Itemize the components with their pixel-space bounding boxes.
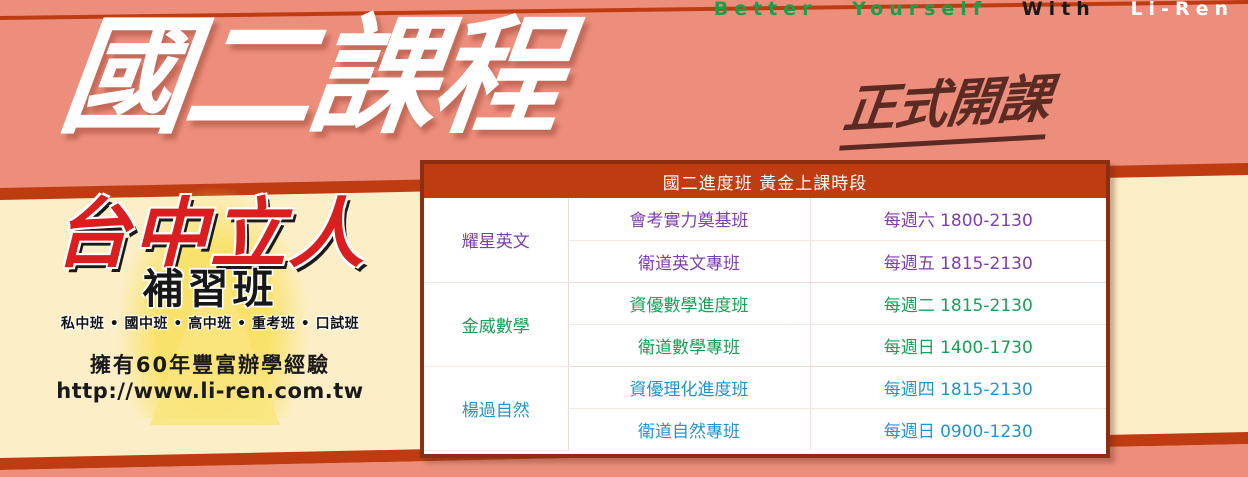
cell-subject: 金威數學 [424,282,568,366]
cell-subject: 楊過自然 [424,366,568,450]
cell-class-name: 衛道英文專班 [568,240,810,282]
table-row: 金威數學資優數學進度班每週二 1815-2130 [424,282,1106,324]
page-title: 國二課程 [54,8,567,146]
cell-class-name: 衛道自然專班 [568,408,810,450]
promo-banner: Better Yourself With Li-Ren 國二課程 正式開課 台中… [0,0,1248,477]
cell-class-name: 資優數學進度班 [568,282,810,324]
brand-logo: 台中立人 補習班 私中班 • 國中班 • 高中班 • 重考班 • 口試班 擁有6… [20,196,400,403]
cell-time-slot: 每週二 1815-2130 [810,282,1106,324]
logo-experience-text: 擁有60年豐富辦學經驗 [20,349,400,379]
schedule-table-title: 國二進度班 黃金上課時段 [424,164,1106,198]
tagline-word-with: With [1022,0,1096,20]
table-row: 楊過自然資優理化進度班每週四 1815-2130 [424,366,1106,408]
schedule-table-panel: 國二進度班 黃金上課時段 耀星英文會考實力奠基班每週六 1800-2130衛道英… [420,160,1110,458]
schedule-table: 耀星英文會考實力奠基班每週六 1800-2130衛道英文專班每週五 1815-2… [424,198,1106,451]
cell-class-name: 會考實力奠基班 [568,198,810,240]
cell-class-name: 衛道數學專班 [568,324,810,366]
logo-class-list: 私中班 • 國中班 • 高中班 • 重考班 • 口試班 [20,313,400,333]
table-row: 耀星英文會考實力奠基班每週六 1800-2130 [424,198,1106,240]
brand-tagline: Better Yourself With Li-Ren [714,0,1234,20]
cell-class-name: 資優理化進度班 [568,366,810,408]
tagline-word-yourself: Yourself [852,0,987,20]
tagline-word-liren: Li-Ren [1130,0,1234,20]
logo-website-url[interactable]: http://www.li-ren.com.tw [20,379,400,403]
logo-school-name: 台中立人 [20,196,400,272]
cell-time-slot: 每週日 0900-1230 [810,408,1106,450]
cell-time-slot: 每週六 1800-2130 [810,198,1106,240]
cell-time-slot: 每週四 1815-2130 [810,366,1106,408]
cell-time-slot: 每週日 1400-1730 [810,324,1106,366]
cell-time-slot: 每週五 1815-2130 [810,240,1106,282]
cell-subject: 耀星英文 [424,198,568,282]
page-subtitle: 正式開課 [839,56,1055,150]
tagline-word-better: Better [714,0,818,20]
